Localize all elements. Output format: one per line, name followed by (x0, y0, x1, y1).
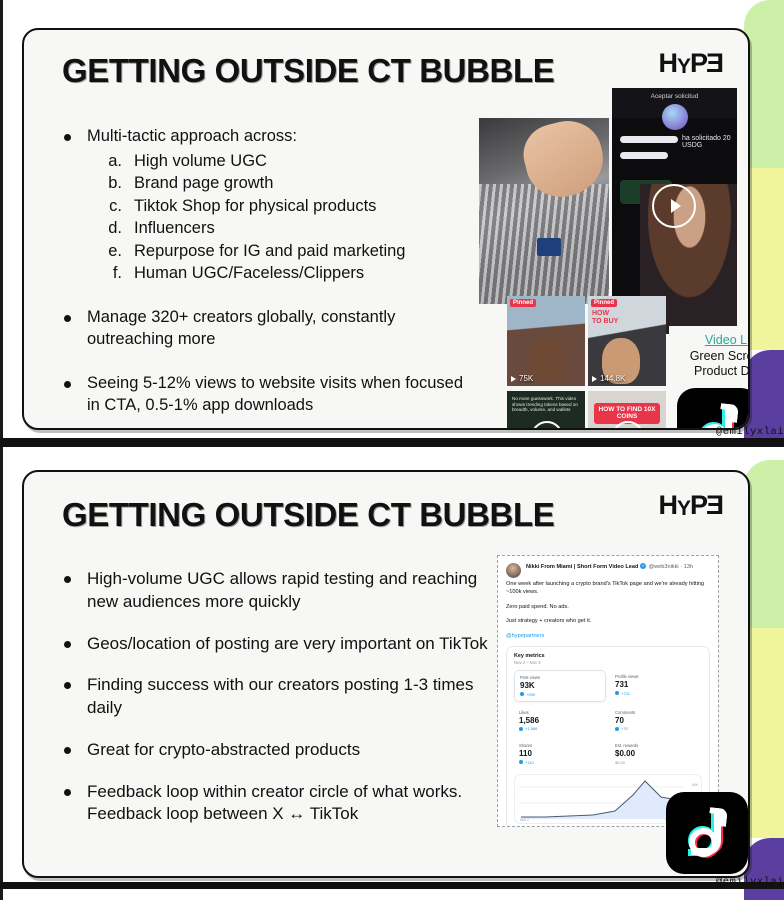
logo-letter-p: P (690, 492, 707, 519)
logo-letter-y: Y (677, 56, 690, 77)
metrics-grid: Post views 93K +93K Profile views 731 +7… (514, 670, 702, 769)
tweet-author: Nikki From Miami | Short Form Video Lead… (526, 563, 693, 571)
metric-label: Comments (615, 710, 697, 715)
view-count-label: 75K (511, 374, 533, 383)
sublist-text: Tiktok Shop for physical products (134, 196, 376, 217)
sublist-marker: e. (98, 242, 122, 261)
bullet-text: Seeing 5-12% views to website visits whe… (87, 373, 474, 417)
bullet-dot-icon (64, 789, 71, 796)
view-count-label: 144.8K (592, 374, 625, 383)
list-item: Finding success with our creators postin… (64, 674, 504, 720)
redacted-bar (620, 152, 668, 159)
sublist-marker: f. (98, 264, 122, 283)
chart-y-top: 60K (692, 783, 698, 787)
media-collage: Aceptar solicitud ha solicitado 20 USDG … (479, 88, 737, 428)
view-count-value: 144.8K (600, 374, 625, 383)
tweet-line-1: One week after launching a crypto brand'… (506, 580, 710, 597)
sublist-text: High volume UGC (134, 151, 267, 172)
decor-block-yellow-top (744, 168, 784, 350)
list-item: a. High volume UGC (98, 151, 474, 172)
thumbnail-keyboard-hands[interactable] (479, 118, 609, 304)
list-item: d. Influencers (98, 218, 474, 239)
metric-value: 1,586 (519, 716, 601, 726)
watermark-top: @emilyxlai (664, 426, 784, 440)
play-button-icon[interactable] (652, 184, 696, 228)
metric-delta: +93K (520, 692, 600, 697)
overlay-caption: HOWTO BUY (592, 310, 618, 326)
tweet-header: Nikki From Miami | Short Form Video Lead… (506, 563, 710, 578)
decor-block-green-bottom (744, 460, 784, 628)
list-item: e. Repurpose for IG and paid marketing (98, 241, 474, 262)
metric-value: $0.00 (615, 749, 697, 759)
metric-label: Likes (519, 710, 601, 715)
bullet-dot-icon (64, 641, 71, 648)
tiktok-logo-icon (666, 792, 748, 874)
lettered-sublist: a. High volume UGC b. Brand page growth … (98, 151, 474, 285)
chip-graphic (537, 238, 561, 256)
decor-block-yellow-bottom (744, 628, 784, 838)
page-title: GETTING OUTSIDE CT BUBBLE (62, 52, 554, 90)
metric-delta: $0.00 (615, 760, 697, 765)
bullet-dot-icon (64, 134, 71, 141)
hype-logo: H Y P E (658, 50, 724, 77)
metric-shares: Shares 110 +110 (514, 739, 606, 769)
bullet-dot-icon (64, 315, 71, 322)
chart-x-start: Nov 2 (520, 818, 529, 822)
tweet-display-name: Nikki From Miami | Short Form Video Lead (526, 564, 638, 570)
decor-block-green-top (744, 0, 784, 168)
logo-letter-h: H (658, 50, 677, 77)
bullet-dot-icon (64, 381, 71, 388)
list-item: High-volume UGC allows rapid testing and… (64, 568, 504, 614)
metric-post-views: Post views 93K +93K (514, 670, 606, 702)
sublist-marker: c. (98, 197, 122, 216)
sublist-text: Human UGC/Faceless/Clippers (134, 263, 364, 284)
bullet-text: Manage 320+ creators globally, constantl… (87, 307, 474, 351)
slide-one: GETTING OUTSIDE CT BUBBLE H Y P E Multi-… (22, 28, 750, 430)
metric-label: Profile views (615, 674, 697, 679)
list-item: Great for crypto-abstracted products (64, 739, 504, 762)
tweet-handle: @web3nikki (648, 564, 678, 570)
overlay-caption: No more guesswork. This video shows tren… (512, 396, 580, 413)
tweet-mention-link[interactable]: @hypepartners (506, 632, 710, 640)
list-item: Manage 320+ creators globally, constantl… (64, 307, 474, 351)
bullet-text: High-volume UGC allows rapid testing and… (87, 568, 504, 614)
video-link[interactable]: Video Link (705, 333, 750, 347)
metric-label: Post views (520, 675, 600, 680)
video-link-block: Video Link Green Screen + Product Demo (669, 326, 750, 386)
sublist-marker: d. (98, 219, 122, 238)
metrics-title: Key metrics (514, 653, 702, 659)
verified-badge-icon: ✓ (640, 563, 646, 569)
metric-delta: +110 (519, 760, 601, 765)
metrics-date-range: Nov 2 – Nov 9 (514, 660, 702, 665)
logo-letter-y: Y (677, 498, 690, 519)
bullet-text: Feedback loop within creator circle of w… (87, 781, 504, 827)
bullet-list-slide-two: High-volume UGC allows rapid testing and… (64, 568, 504, 845)
sublist-text: Brand page growth (134, 173, 273, 194)
sublist-marker: b. (98, 174, 122, 193)
metric-value: 731 (615, 680, 697, 690)
redacted-bar (620, 136, 678, 143)
list-item: Geos/location of posting are very import… (64, 633, 504, 656)
presentation-page: GETTING OUTSIDE CT BUBBLE H Y P E Multi-… (0, 0, 784, 900)
bullet-dot-icon (64, 682, 71, 689)
pinned-badge: Pinned (510, 299, 536, 307)
list-item: b. Brand page growth (98, 173, 474, 194)
hype-logo: H Y P E (658, 492, 724, 519)
page-title: GETTING OUTSIDE CT BUBBLE (62, 496, 554, 534)
sublist-marker: a. (98, 152, 122, 171)
tweet-line-3: Just strategy + creators who get it. (506, 617, 710, 625)
logo-letter-e: E (707, 50, 724, 77)
thumbnail-creator-2[interactable]: Pinned HOWTO BUY 144.8K (588, 296, 666, 386)
bullet-text: Geos/location of posting are very import… (87, 633, 488, 656)
watermark-bottom: @emilyxlai (664, 876, 784, 890)
bullet-dot-icon (64, 576, 71, 583)
avatar (506, 563, 521, 578)
metric-delta: +70 (615, 726, 697, 731)
metric-value: 110 (519, 749, 601, 759)
play-triangle-icon (592, 376, 597, 382)
list-item: f. Human UGC/Faceless/Clippers (98, 263, 474, 284)
sublist-text: Influencers (134, 218, 215, 239)
metric-est-rewards: Est. rewards $0.00 $0.00 (610, 739, 702, 769)
list-item: Seeing 5-12% views to website visits whe… (64, 373, 474, 417)
thumbnail-creator-1[interactable]: Pinned 75K (507, 296, 585, 386)
left-edge-rule (0, 0, 3, 900)
decor-block-purple-top (744, 350, 784, 438)
bullet-text: Finding success with our creators postin… (87, 674, 504, 720)
metric-value: 93K (520, 681, 600, 691)
metric-comments: Comments 70 +70 (610, 706, 702, 736)
play-button-icon[interactable] (531, 421, 563, 430)
logo-letter-h: H (658, 492, 677, 519)
video-link-caption: Green Screen + Product Demo (669, 349, 750, 379)
logo-letter-e: E (707, 492, 724, 519)
tweet-body: One week after launching a crypto brand'… (506, 580, 710, 640)
metric-profile-views: Profile views 731 +731 (610, 670, 702, 702)
thumbnail-creator-3[interactable]: No more guesswork. This video shows tren… (507, 391, 585, 430)
tweet-screenshot[interactable]: Nikki From Miami | Short Form Video Lead… (497, 555, 719, 827)
play-triangle-icon (511, 376, 516, 382)
view-count-value: 75K (519, 374, 533, 383)
phone-avatar (662, 104, 688, 130)
metric-delta: +1,586 (519, 726, 601, 731)
list-item: c. Tiktok Shop for physical products (98, 196, 474, 217)
metric-label: Est. rewards (615, 743, 697, 748)
tiktok-logo-icon (677, 388, 750, 430)
sublist-text: Repurpose for IG and paid marketing (134, 241, 406, 262)
pinned-badge: Pinned (591, 299, 617, 307)
decor-block-purple-bottom (744, 838, 784, 900)
bullet-text: Multi-tactic approach across: (87, 126, 297, 148)
tweet-line-2: Zero paid spend. No ads. (506, 603, 710, 611)
bullet-dot-icon (64, 747, 71, 754)
metric-label: Shares (519, 743, 601, 748)
list-item: Multi-tactic approach across: (64, 126, 474, 148)
list-item: Feedback loop within creator circle of w… (64, 781, 504, 827)
bullet-text: Great for crypto-abstracted products (87, 739, 360, 762)
metric-delta: +731 (615, 691, 697, 696)
person-graphic (529, 338, 565, 382)
tweet-timestamp: 13h (684, 564, 693, 570)
bullet-list-slide-one: Multi-tactic approach across: a. High vo… (64, 126, 474, 416)
logo-letter-p: P (690, 50, 707, 77)
metric-likes: Likes 1,586 +1,586 (514, 706, 606, 736)
phone-request-text: ha solicitado 20 USDG (682, 135, 737, 149)
thumbnail-creator-4[interactable]: HOW TO FIND 10X COINS mexn (588, 391, 666, 430)
metric-value: 70 (615, 716, 697, 726)
